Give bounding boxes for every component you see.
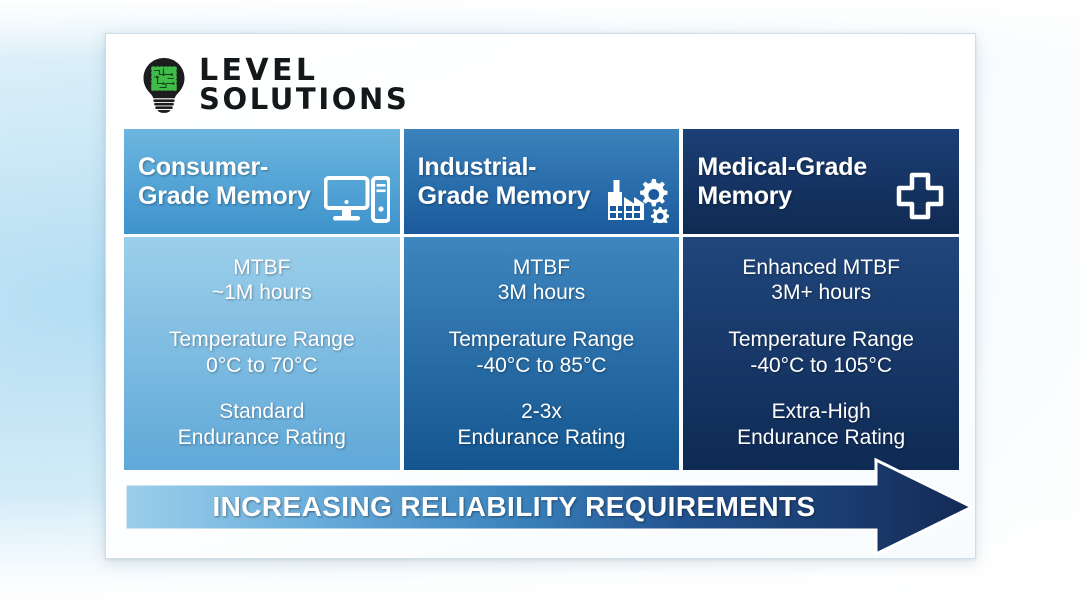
column-title-industrial: Industrial-Grade Memory (418, 153, 601, 210)
stat-item: MTBF ~1M hours (212, 255, 312, 306)
stat-item: Temperature Range -40°C to 85°C (449, 327, 635, 378)
stat-value: Endurance Rating (178, 425, 346, 451)
comparison-columns: Consumer-Grade Memory (124, 129, 959, 470)
stat-value: -40°C to 105°C (728, 353, 914, 379)
column-header-consumer: Consumer-Grade Memory (124, 129, 400, 234)
brand-line-1: LEVEL (199, 56, 409, 85)
column-medical-grade: Medical-Grade Memory Enhanced MTBF 3M+ h… (683, 129, 959, 470)
desktop-computer-icon (324, 175, 390, 228)
medical-cross-icon (891, 171, 949, 228)
column-body-consumer: MTBF ~1M hours Temperature Range 0°C to … (124, 237, 400, 470)
stat-item: MTBF 3M hours (498, 255, 586, 306)
stat-item: Enhanced MTBF 3M+ hours (742, 255, 900, 306)
column-title-consumer: Consumer-Grade Memory (138, 153, 321, 210)
stat-label: Enhanced MTBF (742, 255, 900, 281)
stat-label: Temperature Range (169, 327, 355, 353)
stat-label: Standard (178, 399, 346, 425)
stat-label: Extra-High (737, 399, 905, 425)
stat-label: MTBF (212, 255, 312, 281)
column-body-medical: Enhanced MTBF 3M+ hours Temperature Rang… (683, 237, 959, 470)
right-arrow-icon (124, 476, 976, 538)
column-body-industrial: MTBF 3M hours Temperature Range -40°C to… (404, 237, 680, 470)
stat-item: Extra-High Endurance Rating (737, 399, 905, 450)
column-title-medical: Medical-Grade Memory (697, 153, 880, 210)
factory-gears-icon (605, 175, 669, 228)
stat-label: 2-3x (457, 399, 625, 425)
stat-item: Temperature Range -40°C to 105°C (728, 327, 914, 378)
stat-value: 3M+ hours (742, 280, 900, 306)
stat-value: 3M hours (498, 280, 586, 306)
column-header-industrial: Industrial-Grade Memory (404, 129, 680, 234)
stat-item: Temperature Range 0°C to 70°C (169, 327, 355, 378)
column-header-medical: Medical-Grade Memory (683, 129, 959, 234)
stat-label: Temperature Range (449, 327, 635, 353)
brand-line-2: SOLUTIONS (199, 85, 409, 113)
stat-item: Standard Endurance Rating (178, 399, 346, 450)
infographic-card: LEVEL SOLUTIONS Consumer-Grade Memory (105, 33, 976, 559)
column-consumer-grade: Consumer-Grade Memory (124, 129, 400, 470)
lightbulb-circuit-icon (139, 57, 189, 113)
stat-value: -40°C to 85°C (449, 353, 635, 379)
stat-label: Temperature Range (728, 327, 914, 353)
brand-wordmark: LEVEL SOLUTIONS (199, 56, 409, 113)
stat-value: 0°C to 70°C (169, 353, 355, 379)
brand-logo: LEVEL SOLUTIONS (139, 56, 409, 113)
reliability-arrow-banner: INCREASING RELIABILITY REQUIREMENTS (124, 476, 976, 538)
stat-label: MTBF (498, 255, 586, 281)
stat-value: Endurance Rating (737, 425, 905, 451)
stat-item: 2-3x Endurance Rating (457, 399, 625, 450)
column-industrial-grade: Industrial-Grade Memory (404, 129, 680, 470)
stat-value: ~1M hours (212, 280, 312, 306)
stat-value: Endurance Rating (457, 425, 625, 451)
